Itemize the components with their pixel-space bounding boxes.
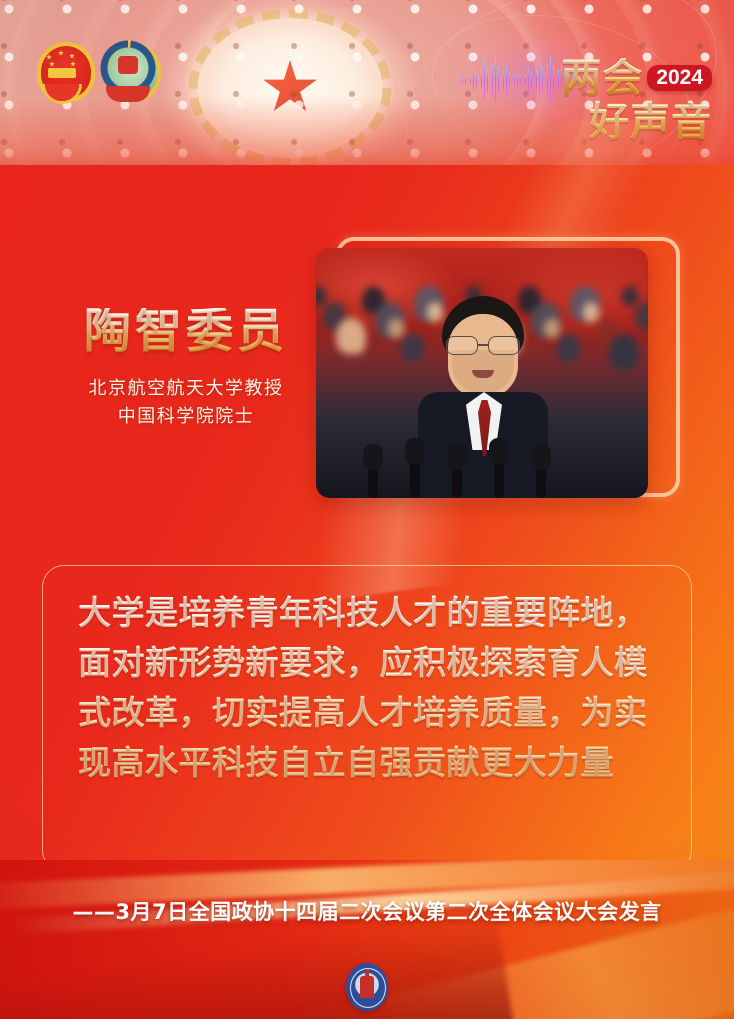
logo-year-badge: 2024 xyxy=(647,65,712,91)
speaker-photo xyxy=(316,248,648,498)
emblem-group xyxy=(34,38,156,108)
logo-line2: 好声音 xyxy=(589,99,712,145)
speaker-title-line1: 北京航空航天大学教授 xyxy=(46,375,326,403)
microphones-icon xyxy=(368,436,608,498)
national-emblem-icon xyxy=(34,38,90,108)
cppcc-emblem-icon xyxy=(100,38,156,108)
program-logo: 两会 2024 好声音 xyxy=(542,58,712,142)
speaker-title-line2: 中国科学院院士 xyxy=(46,403,326,431)
glasses-icon xyxy=(444,336,522,353)
logo-line1: 两会 xyxy=(561,58,643,98)
cppcc-round-badge-icon xyxy=(346,963,388,1011)
quote-text: 大学是培养青年科技人才的重要阵地，面对新形势新要求，应积极探索育人模式改革，切实… xyxy=(78,588,678,789)
speaker-titles: 北京航空航天大学教授 中国科学院院士 xyxy=(46,375,326,431)
speaker-name: 陶智委员 xyxy=(56,308,316,355)
footer-caption: ——3月7日全国政协十四届二次会议第二次全体会议大会发言 xyxy=(0,896,734,926)
poster-root: 两会 2024 好声音 陶智委员 北京航空航天大学教授 中国科学院院士 大 xyxy=(0,0,734,1019)
